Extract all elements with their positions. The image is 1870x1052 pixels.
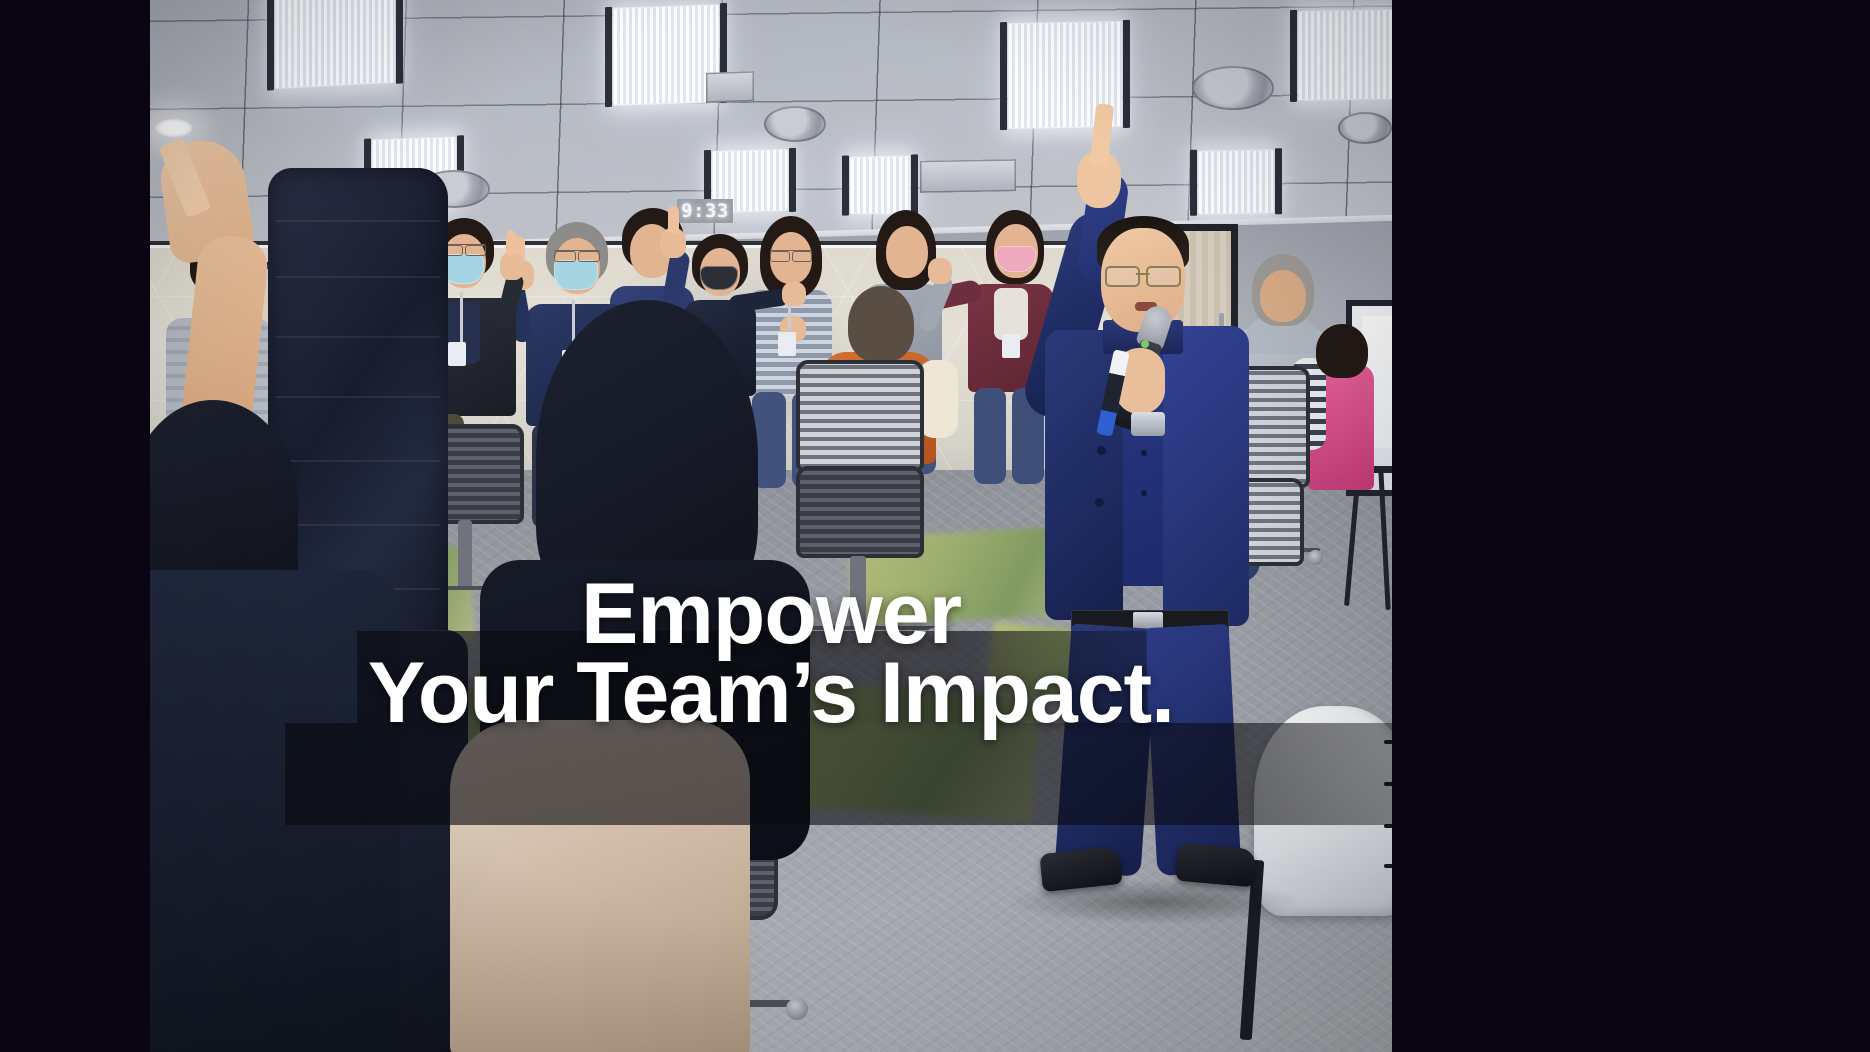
jacket-button: [1095, 498, 1104, 507]
recessed-downlight-icon: [154, 118, 194, 138]
jacket-button: [1097, 446, 1106, 455]
ceiling-vent: [706, 71, 754, 103]
microphone-indicator: [1141, 340, 1149, 348]
ceiling-lamp: [613, 4, 719, 106]
ceiling-speaker-icon: [1192, 66, 1274, 110]
leg: [974, 388, 1006, 484]
face-mask: [554, 260, 598, 290]
trouser-left: [1054, 623, 1157, 876]
pointing-finger: [506, 230, 516, 256]
office-chair: [796, 466, 924, 558]
ceiling-lamp: [1298, 9, 1392, 101]
name-badge: [448, 342, 466, 366]
chair-post: [850, 556, 866, 630]
ceiling-lamp: [275, 0, 395, 89]
shirt-button: [1141, 490, 1147, 496]
name-badge: [778, 332, 796, 356]
speaker-figure: [1005, 150, 1285, 910]
chair-slot: [1384, 864, 1392, 868]
speaker-shadow: [1010, 880, 1300, 924]
foreground-beige-top-person: [450, 720, 750, 1052]
eyeglasses-icon: [442, 244, 486, 254]
chair-caster: [786, 998, 808, 1020]
eyeglasses-icon: [770, 250, 812, 260]
workshop-photo: 9:33 Flip: [150, 0, 1392, 1052]
lanyard: [460, 292, 463, 342]
eyeglasses-icon: [554, 250, 600, 260]
screenshot-canvas: 9:33 Flip: [0, 0, 1870, 1052]
eyeglasses-icon: [1105, 266, 1181, 284]
hair: [848, 286, 914, 362]
chair-post: [458, 520, 472, 590]
head: [886, 226, 928, 278]
sleeve: [918, 360, 958, 438]
ceiling-speaker-icon: [764, 106, 826, 142]
hand: [782, 282, 806, 306]
pointing-finger: [668, 206, 679, 234]
letterbox-bar-left: [0, 0, 150, 1052]
trouser-right: [1145, 624, 1242, 876]
hand: [500, 252, 524, 280]
shirt-button: [1141, 450, 1147, 456]
hand: [928, 258, 952, 284]
ceiling-speaker-icon: [1338, 112, 1392, 144]
ceiling-lamp: [850, 155, 910, 214]
face-mask: [442, 254, 484, 284]
ceiling-vent: [920, 159, 1016, 193]
clock-time: 9:33: [681, 200, 729, 222]
suit-jacket-right-panel: [1163, 326, 1249, 626]
digital-clock: 9:33: [677, 199, 733, 223]
chair-caster: [1308, 550, 1323, 565]
letterbox-bar-right: [1392, 0, 1870, 1052]
chair-caster: [926, 628, 941, 643]
wristwatch: [1131, 412, 1165, 436]
office-chair: [796, 360, 924, 472]
chair-slot: [1384, 782, 1392, 786]
hair: [1316, 324, 1368, 378]
chair-slot: [1384, 740, 1392, 744]
chair-slot: [1384, 824, 1392, 828]
foreground-body-bottom-left: [150, 570, 400, 1052]
